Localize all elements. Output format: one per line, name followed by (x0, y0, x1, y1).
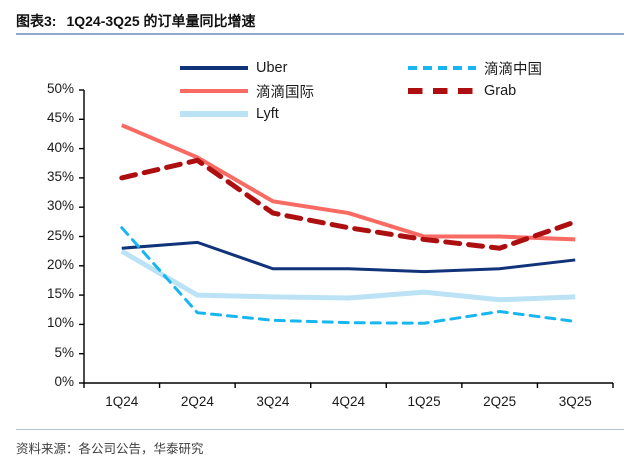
legend-swatch-didi-china (408, 66, 476, 70)
series-line-滴滴国际 (122, 125, 575, 239)
chart-legend: Uber 滴滴中国 滴滴国际 Grab Lyft (180, 58, 580, 126)
legend-item-lyft: Lyft (180, 104, 279, 124)
footer-divider (16, 429, 624, 430)
legend-swatch-uber (180, 66, 248, 70)
series-line-Grab (122, 160, 575, 248)
y-axis-tick-label: 25% (30, 228, 74, 243)
x-axis-tick-label: 3Q24 (238, 394, 308, 409)
chart-page: 图表3: 1Q24-3Q25 的订单量同比增速 Uber 滴滴中国 滴滴国际 G… (0, 0, 640, 464)
series-line-滴滴中国 (122, 228, 575, 324)
y-axis-tick-label: 15% (30, 286, 74, 301)
header-divider (16, 33, 624, 35)
y-axis-tick-label: 45% (30, 110, 74, 125)
legend-swatch-lyft (180, 111, 248, 117)
x-axis-tick-label: 2Q24 (162, 394, 232, 409)
y-axis-tick-label: 10% (30, 315, 74, 330)
y-axis-tick-label: 50% (30, 81, 74, 96)
series-line-Lyft (122, 251, 575, 300)
x-axis-tick-label: 4Q24 (314, 394, 384, 409)
y-axis-tick-label: 35% (30, 169, 74, 184)
series-line-Uber (122, 242, 575, 271)
x-axis-tick-label: 1Q24 (87, 394, 157, 409)
y-axis-tick-label: 20% (30, 257, 74, 272)
legend-label-didi-china: 滴滴中国 (484, 58, 542, 79)
x-axis-tick-label: 1Q25 (389, 394, 459, 409)
chart-header: 图表3: 1Q24-3Q25 的订单量同比增速 (16, 8, 624, 34)
legend-label-didi-intl: 滴滴国际 (256, 81, 314, 102)
legend-swatch-didi-intl (180, 89, 248, 93)
legend-label-grab: Grab (484, 83, 516, 99)
legend-swatch-grab (408, 88, 476, 94)
legend-item-didi-intl: 滴滴国际 (180, 81, 314, 101)
x-axis-tick-label: 3Q25 (540, 394, 610, 409)
x-axis-tick-label: 2Q25 (465, 394, 535, 409)
legend-item-didi-china: 滴滴中国 (408, 58, 542, 78)
legend-label-lyft: Lyft (256, 106, 279, 122)
y-axis-tick-label: 5% (30, 345, 74, 360)
y-axis-tick-label: 30% (30, 198, 74, 213)
figure-label: 图表3: (16, 11, 56, 31)
source-note: 资料来源：各公司公告，华泰研究 (16, 438, 204, 457)
legend-item-uber: Uber (180, 58, 287, 78)
y-axis-tick-label: 0% (30, 374, 74, 389)
legend-label-uber: Uber (256, 60, 287, 76)
y-axis-tick-label: 40% (30, 140, 74, 155)
legend-item-grab: Grab (408, 81, 516, 101)
page-title: 1Q24-3Q25 的订单量同比增速 (66, 11, 255, 31)
